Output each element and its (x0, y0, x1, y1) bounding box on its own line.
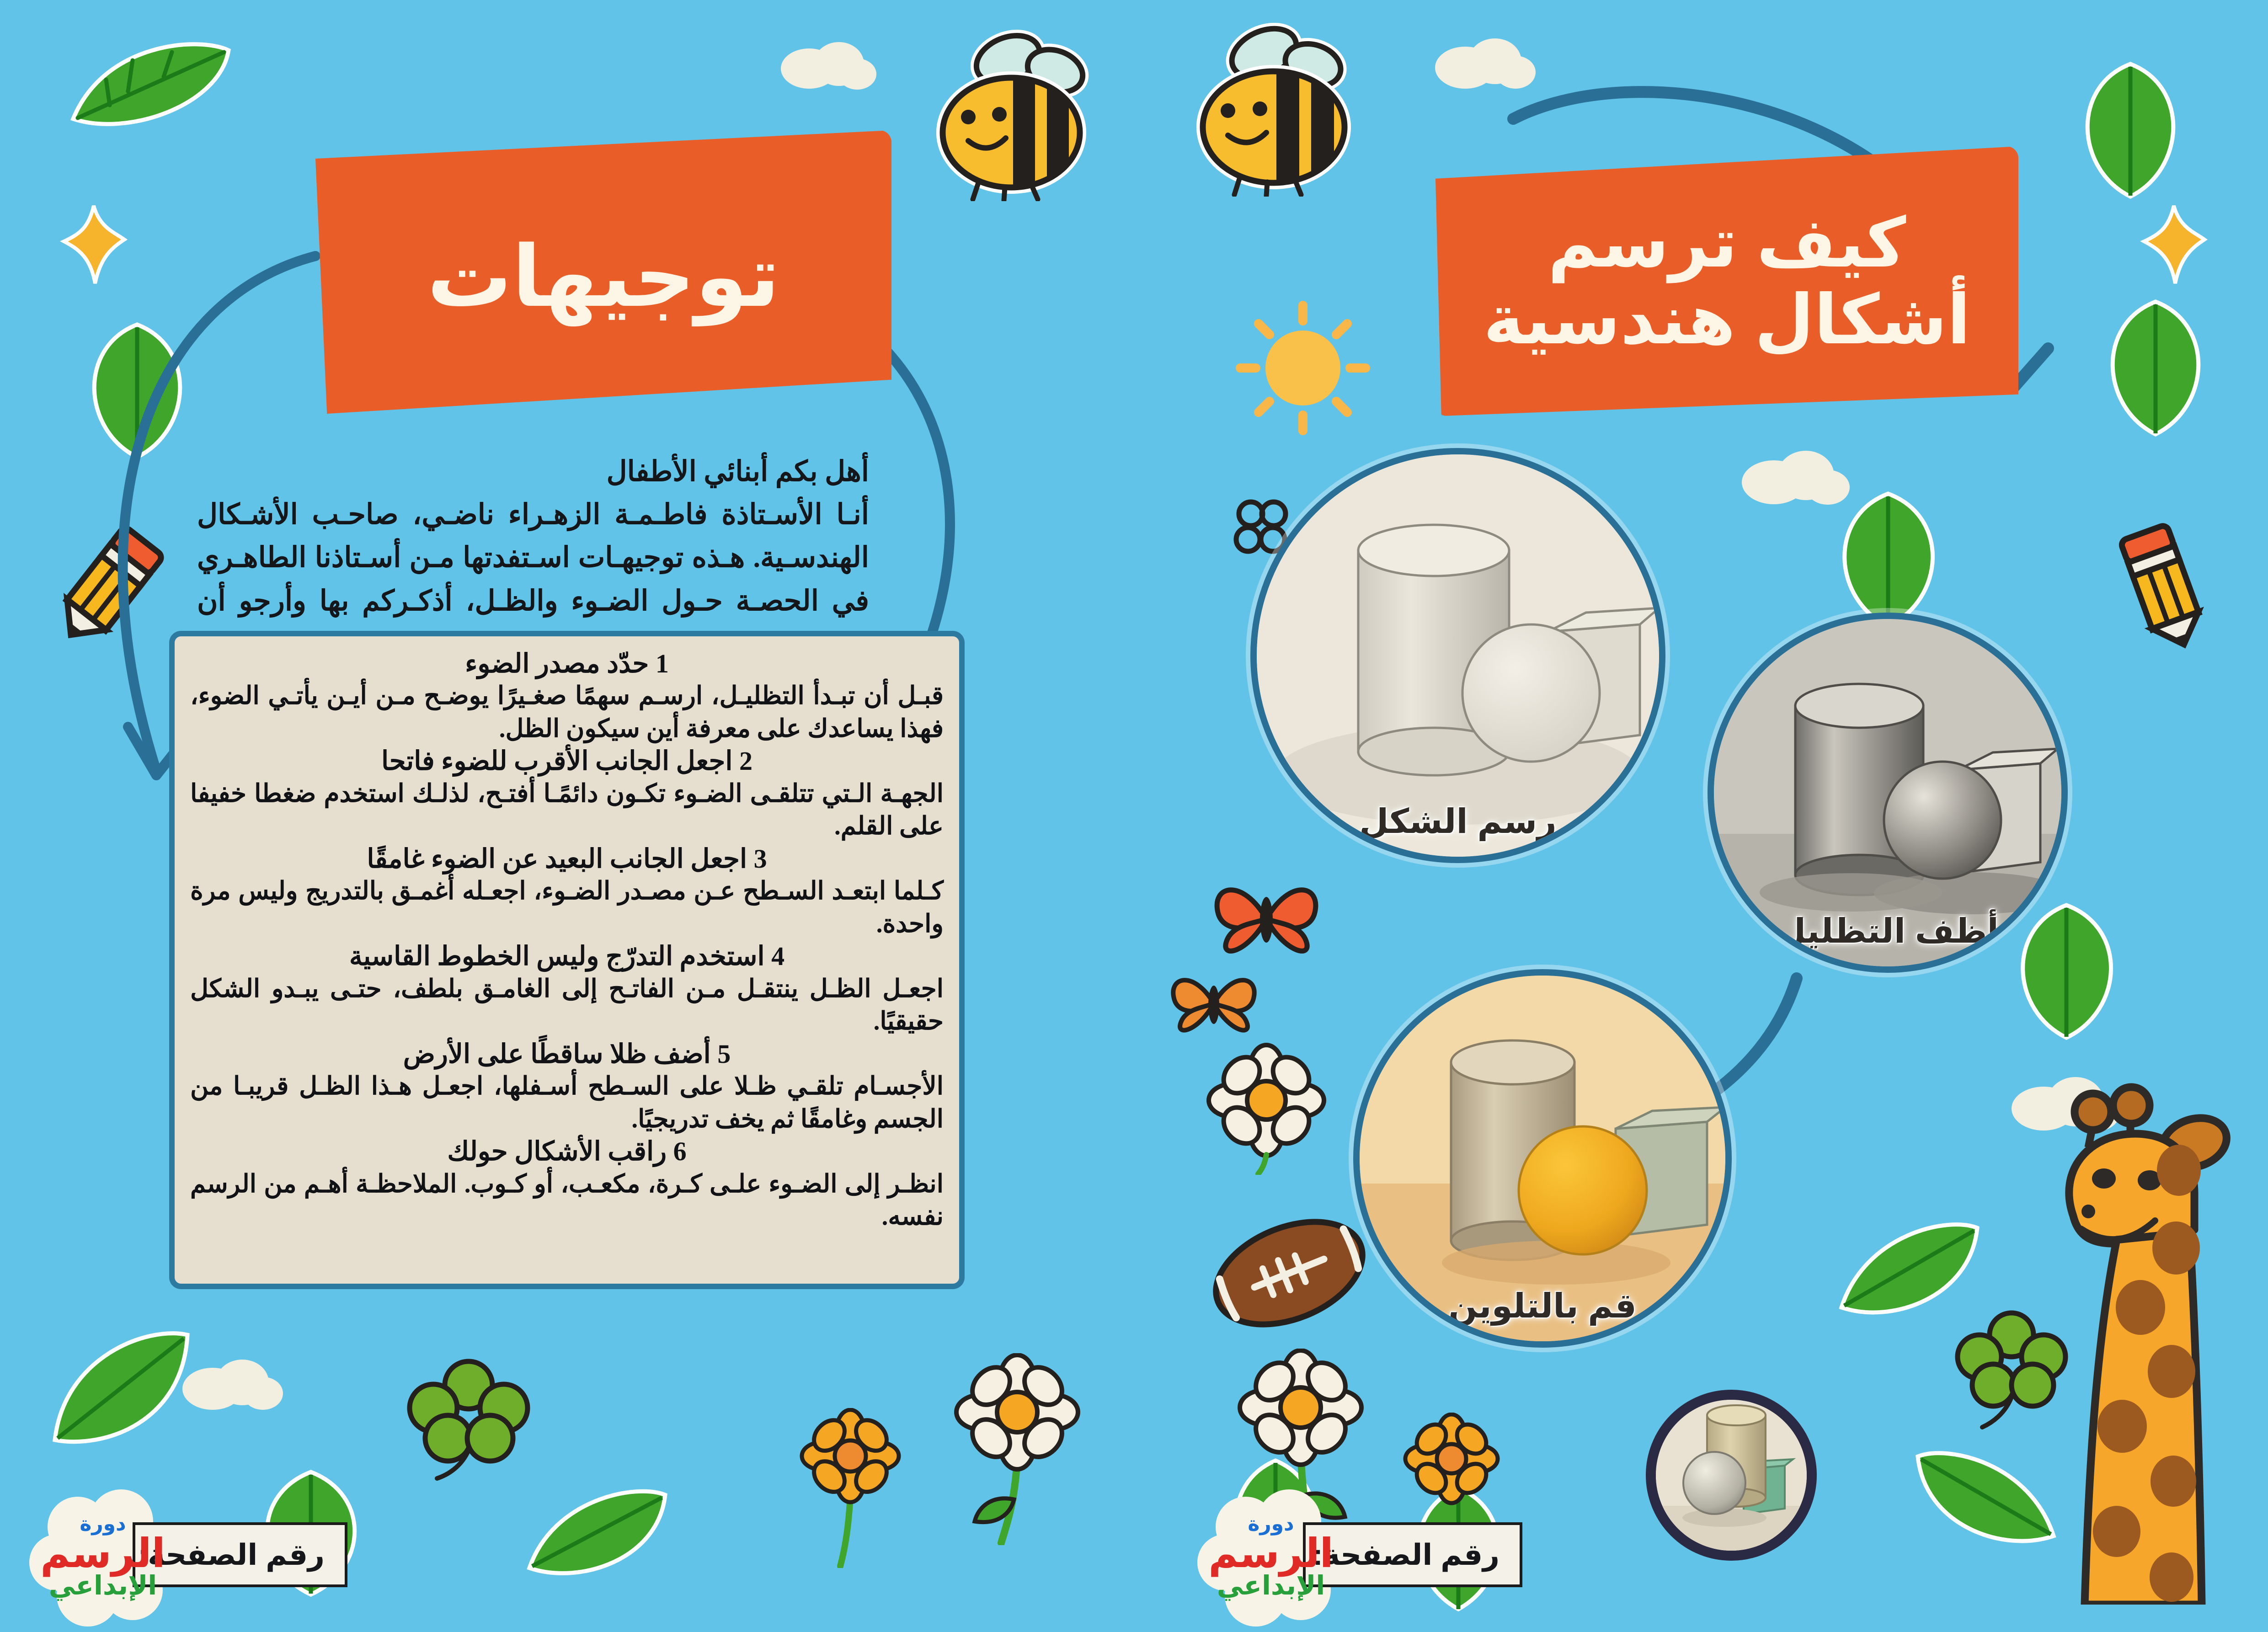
logo-left: دورة الرسم الإبداعي (27, 1481, 178, 1632)
left-banner: توجيهات (315, 130, 891, 414)
page-number-label-right: رقم الصفحة: (1313, 1538, 1500, 1572)
flower-icon (795, 1408, 905, 1568)
tip-body-5: الأجسـام تلقـي ظـلا على السـطح أسـفلها، … (190, 1070, 944, 1135)
tip-heading-3: 3 اجعل الجانب البعيد عن الضوء غامقًا (190, 843, 944, 875)
sparkle-icon (2140, 201, 2208, 288)
tip-heading-1: 1 حدّد مصدر الضوء (190, 648, 944, 679)
flower-icon (942, 1353, 1093, 1545)
tip-body-6: انظـر إلى الضـوء علـى كـرة، مكعـب، أو كـ… (190, 1168, 944, 1233)
step-circle-colorize[interactable]: قم بالتلوين (1353, 969, 1732, 1348)
tip-body-4: اجعـل الظـل ينتقـل مـن الفاتـح إلى الغام… (190, 972, 944, 1038)
cloud-icon (777, 32, 878, 91)
right-banner-title-line2: أشكال هندسية (1484, 281, 1971, 358)
pencil-icon (2094, 517, 2231, 654)
leaf-icon (2062, 55, 2194, 206)
bee-icon (910, 27, 1102, 201)
leaf-icon (521, 1477, 672, 1591)
step-1-illustration (1257, 454, 1659, 857)
logo-line-3: الإبداعي (1208, 1573, 1334, 1599)
leaf-icon (46, 1317, 197, 1454)
step-circle-add-shading[interactable]: أظف التظليل (1708, 613, 2068, 973)
intro-line-1: أهل بكم أبنائي الأطفال (197, 450, 869, 493)
page-number-label-left: رقم الصفحة: (138, 1538, 325, 1572)
tip-body-2: الجهـة الـتي تتلقـى الضـوء تكـون دائمًـا… (190, 777, 944, 843)
logo-right: دورة الرسم الإبداعي (1195, 1481, 1346, 1632)
step-1-label: رسم الشكل (1359, 802, 1557, 841)
tip-heading-5: 5 أضف ظلا ساقطًا على الأرض (190, 1039, 944, 1070)
right-banner: كيف ترسم أشكال هندسية (1436, 146, 2018, 416)
tip-body-3: كـلما ابتعـد السـطح عـن مصـدر الضـوء، اج… (190, 875, 944, 940)
tip-body-1: قبـل أن تبـدأ التظليـل، ارسـم سهمًا صغـي… (190, 679, 944, 745)
logo-line-3: الإبداعي (40, 1573, 165, 1599)
left-banner-title: توجيهات (427, 227, 780, 326)
page-number-field-right[interactable]: رقم الصفحة: (1303, 1522, 1522, 1587)
poster-canvas: توجيهات أهل بكم أبنائي الأطفال أنـا الأس… (0, 0, 2268, 1604)
shapes-thumbnail (1646, 1390, 1817, 1561)
leaf-icon (2085, 293, 2222, 443)
step-2-label: أظف التظليل (1777, 912, 1999, 951)
right-banner-title-line1: كيف ترسم (1484, 204, 1971, 281)
tip-heading-2: 2 اجعل الجانب الأقرب للضوء فاتحا (190, 746, 944, 777)
step-circle-draw-shape[interactable]: رسم الشكل (1250, 448, 1665, 863)
giraffe-icon (1980, 1079, 2268, 1605)
bee-icon (1170, 23, 1371, 197)
clover-icon (393, 1344, 544, 1481)
tip-heading-6: 6 راقب الأشكال حولك (190, 1136, 944, 1167)
logo-line-2: الرسم (40, 1534, 165, 1573)
butterfly-icon (1161, 951, 1266, 1056)
logo-line-2: الرسم (1208, 1534, 1334, 1573)
leaf-icon (64, 32, 238, 137)
tips-box: 1 حدّد مصدر الضوء قبـل أن تبـدأ التظليـل… (169, 631, 965, 1289)
tip-heading-4: 4 استخدم التدرّج وليس الخطوط القاسية (190, 941, 944, 972)
step-3-label: قم بالتلوين (1448, 1286, 1637, 1326)
sun-icon (1225, 293, 1381, 443)
